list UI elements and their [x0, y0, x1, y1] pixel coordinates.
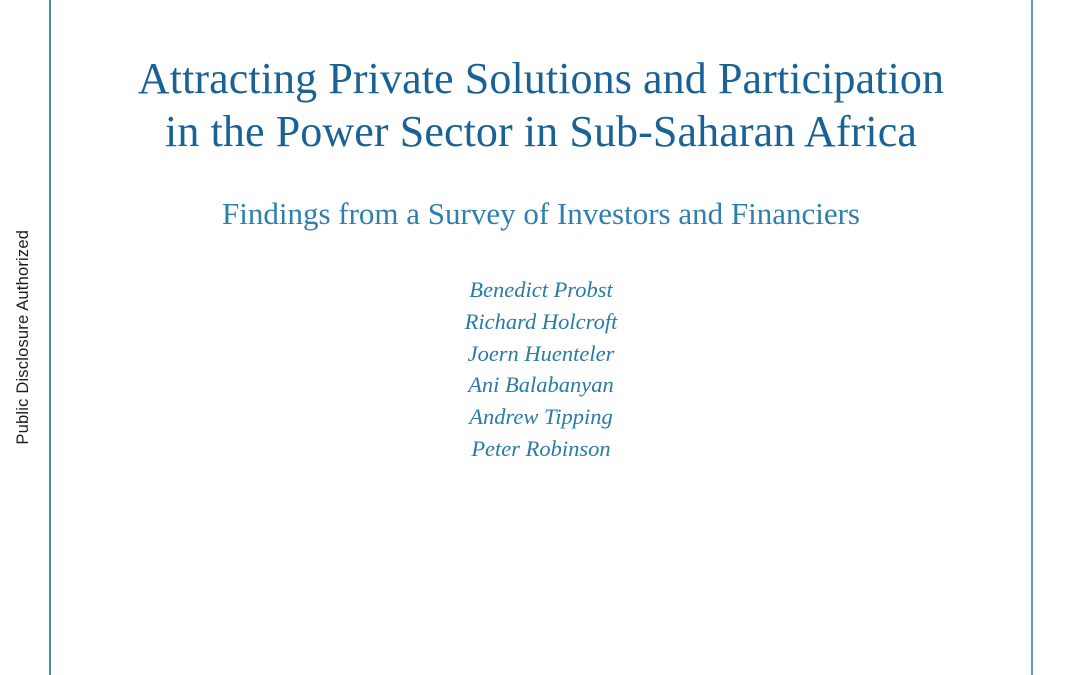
author-name: Richard Holcroft — [51, 306, 1031, 338]
document-title: Attracting Private Solutions and Partici… — [51, 52, 1031, 158]
document-subtitle-text: Findings from a Survey of Investors and … — [51, 194, 1031, 234]
document-subtitle: Findings from a Survey of Investors and … — [51, 194, 1031, 234]
public-disclosure-stamp-label: Public Disclosure Authorized — [15, 230, 32, 445]
document-title-line-2: in the Power Sector in Sub-Saharan Afric… — [51, 105, 1031, 158]
document-cover-page: Public Disclosure Authorized Attracting … — [0, 0, 1080, 675]
author-name: Peter Robinson — [51, 433, 1031, 465]
cover-content: Attracting Private Solutions and Partici… — [51, 0, 1031, 675]
author-name: Benedict Probst — [51, 274, 1031, 306]
document-title-line-1: Attracting Private Solutions and Partici… — [51, 52, 1031, 105]
author-list: Benedict Probst Richard Holcroft Joern H… — [51, 274, 1031, 465]
author-name: Joern Huenteler — [51, 338, 1031, 370]
author-name: Andrew Tipping — [51, 401, 1031, 433]
public-disclosure-stamp: Public Disclosure Authorized — [0, 0, 46, 675]
author-name: Ani Balabanyan — [51, 369, 1031, 401]
right-margin-rule — [1031, 0, 1033, 675]
